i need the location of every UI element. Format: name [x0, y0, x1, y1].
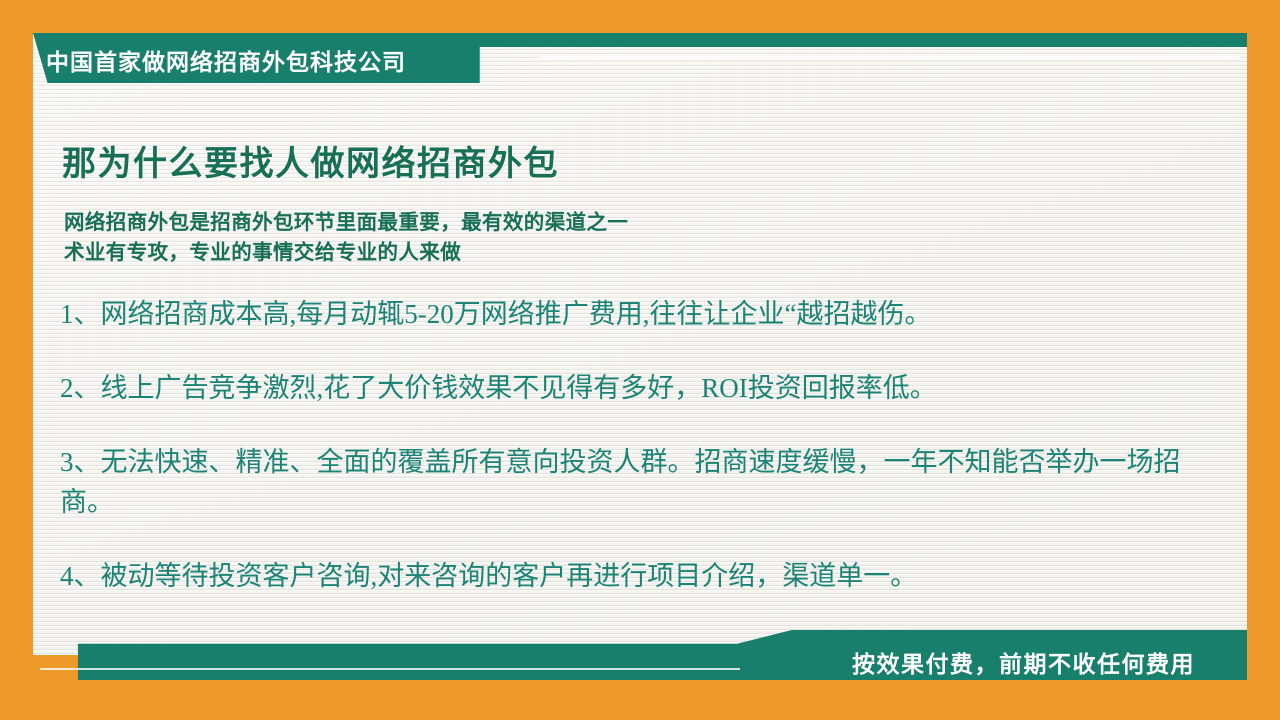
- footer-divider-line: [40, 668, 740, 670]
- list-item: 4、被动等待投资客户咨询,对来咨询的客户再进行项目介绍，渠道单一。: [60, 556, 1190, 596]
- points-list: 1、网络招商成本高,每月动辄5-20万网络推广费用,往往让企业“越招越伤。 2、…: [60, 294, 1190, 596]
- footer-tagline: 按效果付费，前期不收任何费用: [852, 645, 1195, 679]
- list-item: 3、无法快速、精准、全面的覆盖所有意向投资人群。招商速度缓慢，一年不知能否举办一…: [60, 442, 1190, 522]
- header-divider-line: [540, 56, 1240, 58]
- subtitle-line-1: 网络招商外包是招商外包环节里面最重要，最有效的渠道之一: [64, 208, 628, 238]
- subtitle-line-2: 术业有专攻，专业的事情交给专业的人来做: [64, 238, 628, 268]
- subtitle-block: 网络招商外包是招商外包环节里面最重要，最有效的渠道之一 术业有专攻，专业的事情交…: [64, 208, 628, 268]
- list-item: 1、网络招商成本高,每月动辄5-20万网络推广费用,往往让企业“越招越伤。: [60, 294, 1190, 334]
- page-title: 那为什么要找人做网络招商外包: [62, 136, 559, 185]
- header-title: 中国首家做网络招商外包科技公司: [46, 43, 406, 77]
- slide-canvas: 中国首家做网络招商外包科技公司 那为什么要找人做网络招商外包 网络招商外包是招商…: [0, 0, 1280, 720]
- list-item: 2、线上广告竞争激烈,花了大价钱效果不见得有多好，ROI投资回报率低。: [60, 368, 1190, 408]
